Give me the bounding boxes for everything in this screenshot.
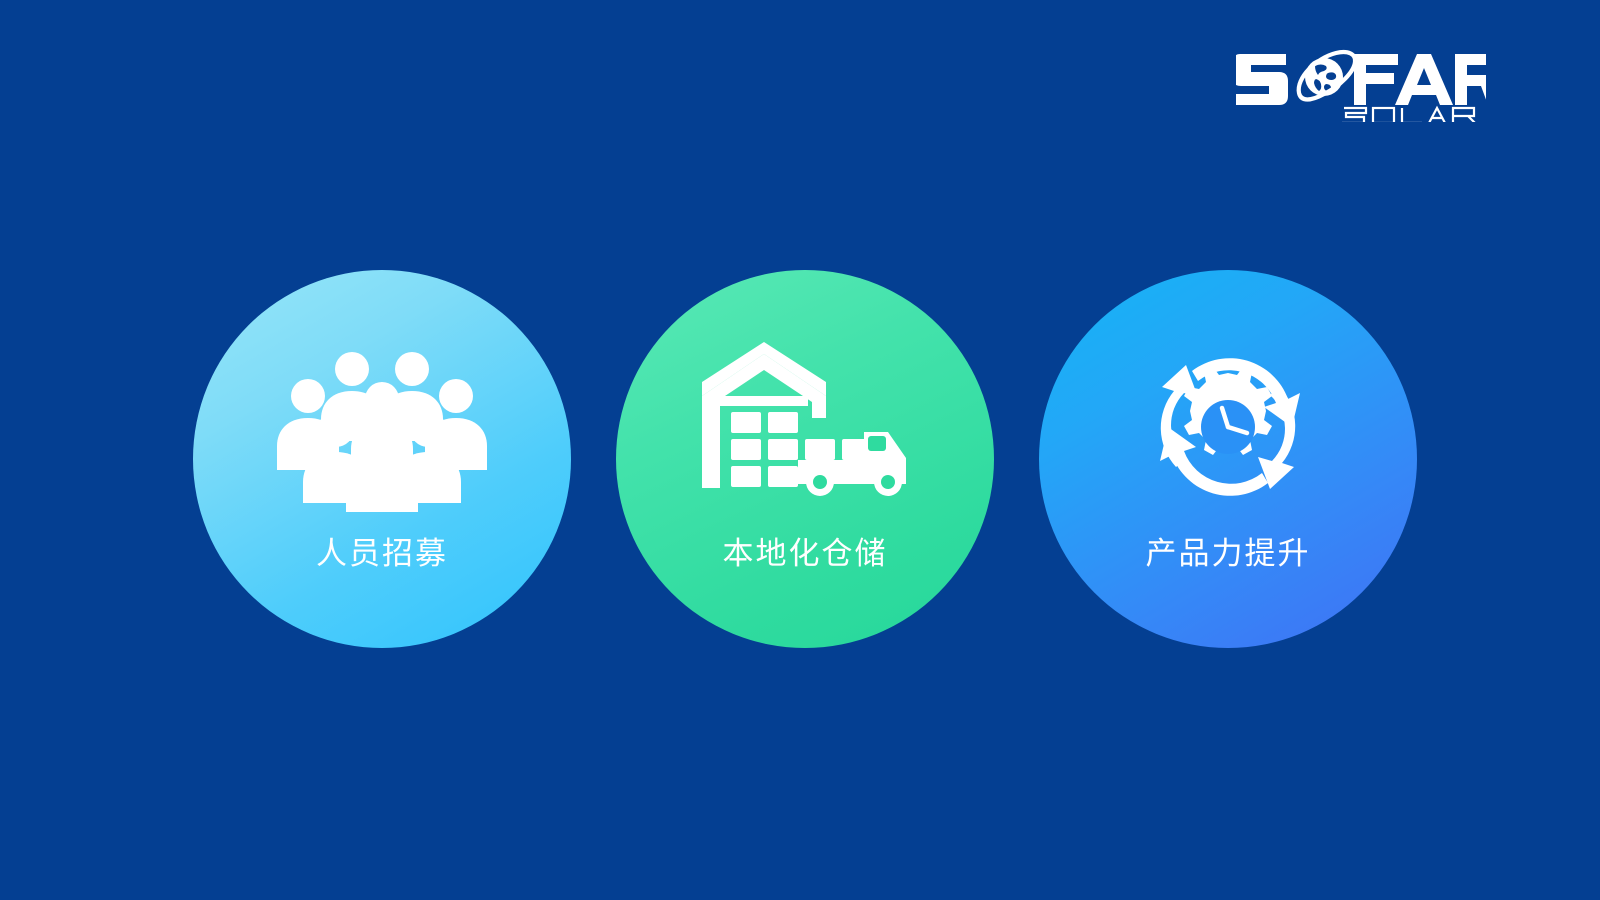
sofar-solar-logo <box>1236 46 1486 122</box>
logo-solar-text <box>1342 108 1475 122</box>
feature-label-local-warehousing: 本地化仓储 <box>723 538 888 569</box>
feature-circle-recruitment[interactable]: 人员招募 <box>193 270 571 648</box>
gear-clock-cycle-icon <box>1128 352 1328 502</box>
globe-orbit-icon <box>1299 52 1355 99</box>
warehouse-truck-icon <box>705 352 905 502</box>
people-group-icon <box>282 352 482 502</box>
feature-label-product-capability: 产品力提升 <box>1146 538 1311 569</box>
feature-circle-local-warehousing[interactable]: 本地化仓储 <box>616 270 994 648</box>
feature-circle-product-capability[interactable]: 产品力提升 <box>1039 270 1417 648</box>
logo-letters-far <box>1354 54 1486 105</box>
feature-circle-row: 人员招募 <box>0 270 1600 650</box>
slide-canvas: 人员招募 <box>0 0 1600 900</box>
feature-label-recruitment: 人员招募 <box>316 538 448 569</box>
logo-letter-s <box>1236 54 1288 105</box>
